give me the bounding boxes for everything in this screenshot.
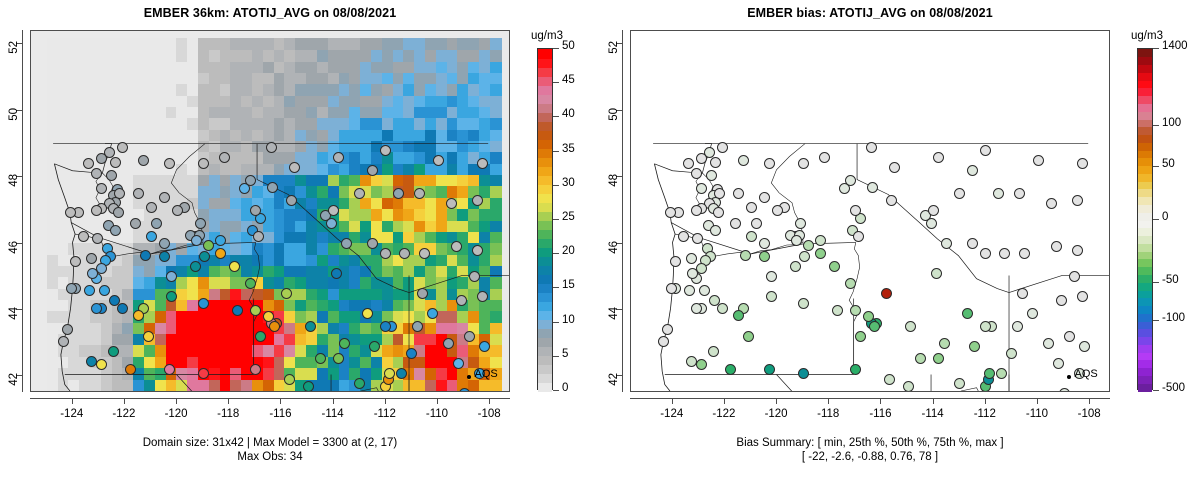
monitor-site-marker[interactable] <box>759 192 770 203</box>
x-tick-label: -120 <box>756 408 796 420</box>
monitor-site-marker[interactable] <box>130 218 141 229</box>
colorbar-gradient <box>1137 48 1153 390</box>
colorbar-tick-label: 1400 <box>1162 40 1188 52</box>
monitor-site-marker[interactable] <box>926 218 937 229</box>
monitor-site-marker[interactable] <box>326 218 337 229</box>
monitor-site-marker[interactable] <box>928 205 939 216</box>
monitor-site-marker[interactable] <box>905 321 916 332</box>
monitor-site-marker[interactable] <box>819 152 830 163</box>
monitor-site-marker[interactable] <box>815 248 826 259</box>
monitor-site-marker[interactable] <box>281 288 292 299</box>
monitor-site-marker[interactable] <box>331 268 342 279</box>
monitor-site-marker[interactable] <box>866 142 877 153</box>
x-tick-label: -114 <box>313 408 353 420</box>
colorbar-segment <box>1138 57 1152 65</box>
colorbar-segment <box>1138 80 1152 88</box>
monitor-site-marker[interactable] <box>472 195 483 206</box>
monitor-site-marker[interactable] <box>354 378 365 389</box>
colorbar-segment <box>538 355 552 365</box>
colorbar-segment <box>1138 352 1152 360</box>
monitor-site-marker[interactable] <box>417 288 428 299</box>
monitor-site-marker[interactable] <box>99 285 110 296</box>
colorbar-segment <box>538 220 552 230</box>
colorbar-segment <box>538 328 552 338</box>
monitor-site-marker[interactable] <box>740 250 751 261</box>
colorbar-segment <box>538 211 552 221</box>
x-tick <box>828 398 829 404</box>
monitor-site-marker[interactable] <box>146 231 157 242</box>
monitor-site-marker[interactable] <box>117 303 128 314</box>
monitor-site-marker[interactable] <box>267 182 278 193</box>
aqs-legend-label: AQS <box>475 368 498 380</box>
x-tick-label: -108 <box>469 408 509 420</box>
monitor-site-marker[interactable] <box>253 231 264 242</box>
monitor-site-marker[interactable] <box>687 268 698 279</box>
monitor-site-marker[interactable] <box>1046 198 1057 209</box>
monitor-site-marker[interactable] <box>159 238 170 249</box>
monitor-site-marker[interactable] <box>66 283 77 294</box>
y-tick-label: 52 <box>8 41 20 71</box>
monitor-site-marker[interactable] <box>984 368 995 379</box>
colorbar-segment <box>538 148 552 158</box>
monitor-site-marker[interactable] <box>1077 291 1088 302</box>
monitor-site-marker[interactable] <box>1056 295 1067 306</box>
monitor-site-marker[interactable] <box>798 298 809 309</box>
monitor-site-marker[interactable] <box>889 162 900 173</box>
colorbar-segment <box>538 67 552 77</box>
aqs-legend-dot <box>1067 375 1071 379</box>
monitor-site-marker[interactable] <box>733 188 744 199</box>
colorbar-tick <box>553 185 559 186</box>
monitor-site-marker[interactable] <box>733 310 744 321</box>
colorbar-tick-label: 15 <box>562 279 575 291</box>
monitor-site-marker[interactable] <box>333 353 344 364</box>
colorbar-segment <box>538 346 552 356</box>
colorbar-segment <box>538 94 552 104</box>
monitor-site-marker[interactable] <box>133 188 144 199</box>
monitor-site-marker[interactable] <box>266 142 277 153</box>
colorbar-tick <box>1153 125 1159 126</box>
x-tick-label: -110 <box>1017 408 1057 420</box>
colorbar-segment <box>1138 337 1152 345</box>
monitor-site-marker[interactable] <box>109 295 120 306</box>
monitor-site-marker[interactable] <box>850 305 861 316</box>
colorbar-tick <box>1153 282 1159 283</box>
monitor-site-marker[interactable] <box>915 353 926 364</box>
x-tick-label: -114 <box>913 408 953 420</box>
monitor-site-marker[interactable] <box>772 205 783 216</box>
monitor-site-marker[interactable] <box>1053 358 1064 369</box>
colorbar-segment <box>1138 274 1152 282</box>
colorbar-segment <box>538 382 552 392</box>
monitor-site-marker[interactable] <box>815 235 826 246</box>
y-tick-label: 44 <box>8 307 20 337</box>
y-tick-label: 42 <box>8 373 20 403</box>
monitor-site-marker[interactable] <box>832 305 843 316</box>
monitor-site-marker[interactable] <box>151 218 162 229</box>
monitor-site-marker[interactable] <box>686 356 697 367</box>
y-tick-label: 50 <box>608 108 620 138</box>
monitor-site-marker[interactable] <box>396 368 407 379</box>
colorbar-tick-label: 25 <box>562 211 575 223</box>
monitor-site-marker[interactable] <box>433 155 444 166</box>
colorbar-segment <box>538 274 552 284</box>
monitor-site-marker[interactable] <box>699 285 710 296</box>
monitor-site-marker[interactable] <box>159 192 170 203</box>
monitor-site-marker[interactable] <box>333 152 344 163</box>
y-axis-line <box>622 30 623 392</box>
colorbar-segment <box>1138 181 1152 189</box>
colorbar-tick-label: 50 <box>562 40 575 52</box>
monitor-site-marker[interactable] <box>730 218 741 229</box>
monitor-site-marker[interactable] <box>710 157 721 168</box>
monitor-site-marker[interactable] <box>65 207 76 218</box>
monitor-site-marker[interactable] <box>684 285 695 296</box>
monitor-site-marker[interactable] <box>665 207 676 218</box>
monitor-site-marker[interactable] <box>108 346 119 357</box>
monitor-site-marker[interactable] <box>203 240 214 251</box>
right-caption-line1: Bias Summary: [ min, 25th %, 50th %, 75t… <box>600 436 1140 450</box>
monitor-site-marker[interactable] <box>84 285 95 296</box>
monitor-site-marker[interactable] <box>725 364 736 375</box>
colorbar-segment <box>1138 259 1152 267</box>
colorbar-segment <box>538 292 552 302</box>
right-caption-line2: [ -22, -2.6, -0.88, 0.76, 78 ] <box>600 450 1140 464</box>
monitor-site-marker[interactable] <box>999 248 1010 259</box>
monitor-site-marker[interactable] <box>931 268 942 279</box>
monitor-site-marker[interactable] <box>472 245 483 256</box>
monitor-site-marker[interactable] <box>245 175 256 186</box>
monitor-site-marker[interactable] <box>751 218 762 229</box>
monitor-site-marker[interactable] <box>140 250 151 261</box>
monitor-site-marker[interactable] <box>845 278 856 289</box>
monitor-site-marker[interactable] <box>884 374 895 385</box>
colorbar-segment <box>1138 173 1152 181</box>
monitor-site-marker[interactable] <box>691 303 702 314</box>
monitor-site-marker[interactable] <box>954 378 965 389</box>
x-tick-label: -124 <box>652 408 692 420</box>
monitor-site-marker[interactable] <box>198 368 209 379</box>
x-tick <box>280 398 281 404</box>
colorbar-segment <box>538 130 552 140</box>
x-tick-label: -110 <box>417 408 457 420</box>
monitor-site-marker[interactable] <box>933 152 944 163</box>
colorbar-gradient <box>537 48 553 390</box>
x-tick <box>124 398 125 404</box>
colorbar-tick-label: 45 <box>562 74 575 86</box>
monitor-site-marker[interactable] <box>933 353 944 364</box>
colorbar-segment <box>538 256 552 266</box>
x-tick <box>489 398 490 404</box>
monitor-site-marker[interactable] <box>881 288 892 299</box>
colorbar-segment <box>1138 383 1152 391</box>
monitor-site-marker[interactable] <box>172 205 183 216</box>
panel-model-concentration: EMBER 36km: ATOTIJ_AVG on 08/08/2021 AQS… <box>0 0 600 479</box>
colorbar-segment <box>1138 321 1152 329</box>
monitor-site-marker[interactable] <box>996 368 1007 379</box>
monitor-site-marker[interactable] <box>117 142 128 153</box>
monitor-site-marker[interactable] <box>146 202 157 213</box>
monitor-site-marker[interactable] <box>1027 308 1038 319</box>
colorbar-tick-label: 50 <box>1162 158 1175 170</box>
colorbar-tick <box>553 356 559 357</box>
aqs-legend-dot <box>467 375 471 379</box>
monitor-site-marker[interactable] <box>91 205 102 216</box>
colorbar-tick-label: -500 <box>1162 382 1185 394</box>
monitor-site-marker[interactable] <box>962 308 973 319</box>
colorbar-segment <box>1138 368 1152 376</box>
monitor-site-marker[interactable] <box>798 368 809 379</box>
x-tick-label: -122 <box>104 408 144 420</box>
colorbar-segment <box>1138 166 1152 174</box>
monitor-site-marker[interactable] <box>406 348 417 359</box>
colorbar-segment <box>538 121 552 131</box>
monitor-site-marker[interactable] <box>464 331 475 342</box>
colorbar-tick <box>553 48 559 49</box>
monitor-site-marker[interactable] <box>456 295 467 306</box>
x-axis-line <box>630 398 1110 399</box>
monitor-site-marker[interactable] <box>198 298 209 309</box>
monitor-site-marker[interactable] <box>850 205 861 216</box>
monitor-site-marker[interactable] <box>362 308 373 319</box>
colorbar-segment <box>538 337 552 347</box>
x-tick-label: -120 <box>156 408 196 420</box>
x-tick <box>333 398 334 404</box>
colorbar-tick-label: 0 <box>1162 211 1168 223</box>
colorbar-segment <box>538 58 552 68</box>
colorbar-tick-label: 0 <box>562 382 568 394</box>
monitor-site-marker[interactable] <box>743 331 754 342</box>
colorbar-segment <box>1138 127 1152 135</box>
monitor-site-marker[interactable] <box>845 175 856 186</box>
colorbar-tick <box>553 151 559 152</box>
colorbar-tick <box>553 116 559 117</box>
monitor-site-marker[interactable] <box>738 155 749 166</box>
colorbar-segment <box>538 283 552 293</box>
x-tick <box>1037 398 1038 404</box>
monitor-site-marker[interactable] <box>863 311 874 322</box>
monitor-site-marker[interactable] <box>86 356 97 367</box>
monitor-site-marker[interactable] <box>305 321 316 332</box>
monitor-site-marker[interactable] <box>143 331 154 342</box>
x-tick <box>933 398 934 404</box>
monitor-site-marker[interactable] <box>867 182 878 193</box>
colorbar-segment <box>1138 204 1152 212</box>
x-axis-line <box>30 398 510 399</box>
colorbar-segment <box>1138 72 1152 80</box>
colorbar-segment <box>1138 243 1152 251</box>
colorbar-segment <box>538 166 552 176</box>
monitor-site-marker[interactable] <box>113 207 124 218</box>
monitor-site-marker[interactable] <box>159 251 170 262</box>
colorbar-segment <box>538 157 552 167</box>
colorbar-tick-label: 40 <box>562 108 575 120</box>
state-border <box>409 374 461 391</box>
colorbar-segment <box>538 112 552 122</box>
monitor-site-marker[interactable] <box>138 155 149 166</box>
colorbar-tick-label: 30 <box>562 177 575 189</box>
colorbar-segment <box>1138 313 1152 321</box>
colorbar-segment <box>1138 119 1152 127</box>
monitor-site-marker[interactable] <box>686 253 697 264</box>
x-tick <box>672 398 673 404</box>
colorbar-tick <box>553 322 559 323</box>
monitor-site-marker[interactable] <box>328 205 339 216</box>
colorbar-segment <box>1138 306 1152 314</box>
colorbar-segment <box>538 49 552 59</box>
monitor-site-marker[interactable] <box>798 158 809 169</box>
colorbar-tick <box>553 287 559 288</box>
colorbar-segment <box>1138 344 1152 352</box>
monitor-site-marker[interactable] <box>315 353 326 364</box>
colorbar-segment <box>538 301 552 311</box>
colorbar-tick-label: 100 <box>1162 117 1181 129</box>
colorbar-segment <box>1138 49 1152 57</box>
colorbar-segment <box>1138 65 1152 73</box>
monitor-site-marker[interactable] <box>691 205 702 216</box>
monitor-site-marker[interactable] <box>245 278 256 289</box>
monitor-site-marker[interactable] <box>198 158 209 169</box>
monitor-site-marker[interactable] <box>289 162 300 173</box>
x-tick-label: -112 <box>365 408 405 420</box>
monitor-site-marker[interactable] <box>708 346 719 357</box>
monitor-site-marker[interactable] <box>853 231 864 242</box>
monitor-site-marker[interactable] <box>1064 331 1075 342</box>
monitor-site-marker[interactable] <box>759 251 770 262</box>
colorbar-segment <box>1138 329 1152 337</box>
y-tick-label: 48 <box>8 174 20 204</box>
monitor-site-marker[interactable] <box>666 283 677 294</box>
colorbar-tick-label: 35 <box>562 143 575 155</box>
colorbar-segment <box>1138 158 1152 166</box>
monitor-site-marker[interactable] <box>284 374 295 385</box>
colorbar-segment <box>538 202 552 212</box>
left-map-plot-area[interactable]: AQS <box>30 30 510 392</box>
colorbar-tick-label: -50 <box>1162 274 1179 286</box>
monitor-site-marker[interactable] <box>759 238 770 249</box>
monitor-site-marker[interactable] <box>91 168 102 179</box>
monitor-site-marker[interactable] <box>746 231 757 242</box>
monitor-site-marker[interactable] <box>219 152 230 163</box>
monitor-site-marker[interactable] <box>215 248 226 259</box>
x-tick <box>985 398 986 404</box>
monitor-site-marker[interactable] <box>1043 338 1054 349</box>
monitor-site-marker[interactable] <box>384 368 395 379</box>
monitor-site-marker[interactable] <box>1006 348 1017 359</box>
y-tick-label: 50 <box>8 108 20 138</box>
colorbar-segment <box>538 85 552 95</box>
monitor-site-marker[interactable] <box>263 311 274 322</box>
x-tick <box>437 398 438 404</box>
colorbar-segment <box>1138 96 1152 104</box>
colorbar-segment <box>1138 189 1152 197</box>
colorbar-segment <box>1138 360 1152 368</box>
colorbar-segment <box>1138 298 1152 306</box>
right-colorbar-units: ug/m3 <box>1131 30 1163 42</box>
colorbar-tick <box>553 253 559 254</box>
colorbar-segment <box>1138 212 1152 220</box>
monitor-site-marker[interactable] <box>133 310 144 321</box>
monitor-site-marker[interactable] <box>803 240 814 251</box>
monitor-site-marker[interactable] <box>250 205 261 216</box>
monitor-site-marker[interactable] <box>746 202 757 213</box>
monitor-site-marker[interactable] <box>717 142 728 153</box>
panel-bias: EMBER bias: ATOTIJ_AVG on 08/08/2021 AQS… <box>600 0 1200 479</box>
x-tick <box>72 398 73 404</box>
colorbar-segment <box>1138 150 1152 158</box>
monitor-site-marker[interactable] <box>86 253 97 264</box>
colorbar-segment <box>1138 220 1152 228</box>
monitor-site-marker[interactable] <box>369 341 380 352</box>
monitor-site-marker[interactable] <box>1072 195 1083 206</box>
colorbar-segment <box>538 364 552 374</box>
colorbar-segment <box>538 265 552 275</box>
monitor-site-marker[interactable] <box>1033 155 1044 166</box>
monitor-site-marker[interactable] <box>691 168 702 179</box>
monitor-site-marker[interactable] <box>110 157 121 168</box>
colorbar-tick <box>1153 48 1159 49</box>
left-caption-line1: Domain size: 31x42 | Max Model = 3300 at… <box>0 436 540 450</box>
monitor-site-marker[interactable] <box>399 248 410 259</box>
monitor-site-marker[interactable] <box>412 321 423 332</box>
colorbar-segment <box>1138 197 1152 205</box>
monitor-site-marker[interactable] <box>717 303 728 314</box>
monitor-site-marker[interactable] <box>339 338 350 349</box>
colorbar-segment <box>538 238 552 248</box>
x-tick <box>724 398 725 404</box>
colorbar-tick <box>553 219 559 220</box>
colorbar-tick <box>1153 166 1159 167</box>
colorbar-segment <box>1138 88 1152 96</box>
monitor-site-marker[interactable] <box>191 235 202 246</box>
monitor-site-marker[interactable] <box>125 364 136 375</box>
monitor-site-marker[interactable] <box>713 207 724 218</box>
y-axis-line <box>22 30 23 392</box>
monitor-site-marker[interactable] <box>446 198 457 209</box>
monitor-site-marker[interactable] <box>215 235 226 246</box>
colorbar-segment <box>1138 267 1152 275</box>
x-tick-label: -118 <box>808 408 848 420</box>
colorbar-segment <box>538 76 552 86</box>
monitor-site-marker[interactable] <box>87 268 98 279</box>
monitor-site-marker[interactable] <box>1072 245 1083 256</box>
colorbar-segment <box>1138 290 1152 298</box>
monitor-site-marker[interactable] <box>250 305 261 316</box>
monitor-site-marker[interactable] <box>443 338 454 349</box>
monitor-site-marker[interactable] <box>969 341 980 352</box>
monitor-site-marker[interactable] <box>1012 321 1023 332</box>
monitor-site-marker[interactable] <box>791 235 802 246</box>
x-tick <box>776 398 777 404</box>
monitor-site-marker[interactable] <box>91 303 102 314</box>
colorbar-segment <box>1138 236 1152 244</box>
monitor-site-marker[interactable] <box>477 291 488 302</box>
monitor-site-marker[interactable] <box>1017 288 1028 299</box>
x-tick-label: -124 <box>52 408 92 420</box>
colorbar-segment <box>1138 135 1152 143</box>
colorbar-segment <box>538 373 552 383</box>
monitor-site-marker[interactable] <box>453 358 464 369</box>
y-tick-label: 42 <box>608 373 620 403</box>
colorbar-segment <box>538 184 552 194</box>
monitor-site-marker[interactable] <box>232 305 243 316</box>
colorbar-segment <box>538 139 552 149</box>
monitor-site-marker[interactable] <box>427 308 438 319</box>
colorbar-segment <box>538 247 552 257</box>
y-tick-label: 52 <box>608 41 620 71</box>
monitor-site-marker[interactable] <box>709 295 720 306</box>
monitor-site-marker[interactable] <box>939 338 950 349</box>
